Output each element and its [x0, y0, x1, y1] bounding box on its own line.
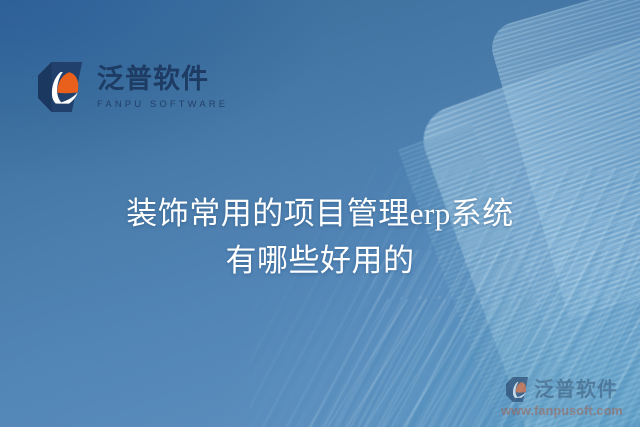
watermark-brand-row: 泛普软件 [492, 377, 632, 402]
headline: 装饰常用的项目管理erp系统 有哪些好用的 [0, 190, 640, 284]
watermark-brand-name: 泛普软件 [534, 379, 618, 399]
brand-name-en: FANPU SOFTWARE [97, 100, 228, 110]
headline-line-1: 装饰常用的项目管理erp系统 [0, 190, 640, 237]
headline-line-2: 有哪些好用的 [0, 237, 640, 284]
watermark-url: www.fanpusoft.com [492, 405, 632, 418]
brand-wordmark: 泛普软件 FANPU SOFTWARE [97, 64, 228, 110]
fanpu-hexagon-logo-icon [38, 62, 86, 112]
watermark: 泛普软件 www.fanpusoft.com [492, 377, 632, 418]
brand-name-cn: 泛普软件 [97, 66, 228, 94]
fanpu-hexagon-logo-icon [506, 377, 530, 402]
promo-banner: 泛普软件 FANPU SOFTWARE 装饰常用的项目管理erp系统 有哪些好用… [0, 0, 640, 427]
brand-logo-lockup: 泛普软件 FANPU SOFTWARE [38, 62, 228, 112]
